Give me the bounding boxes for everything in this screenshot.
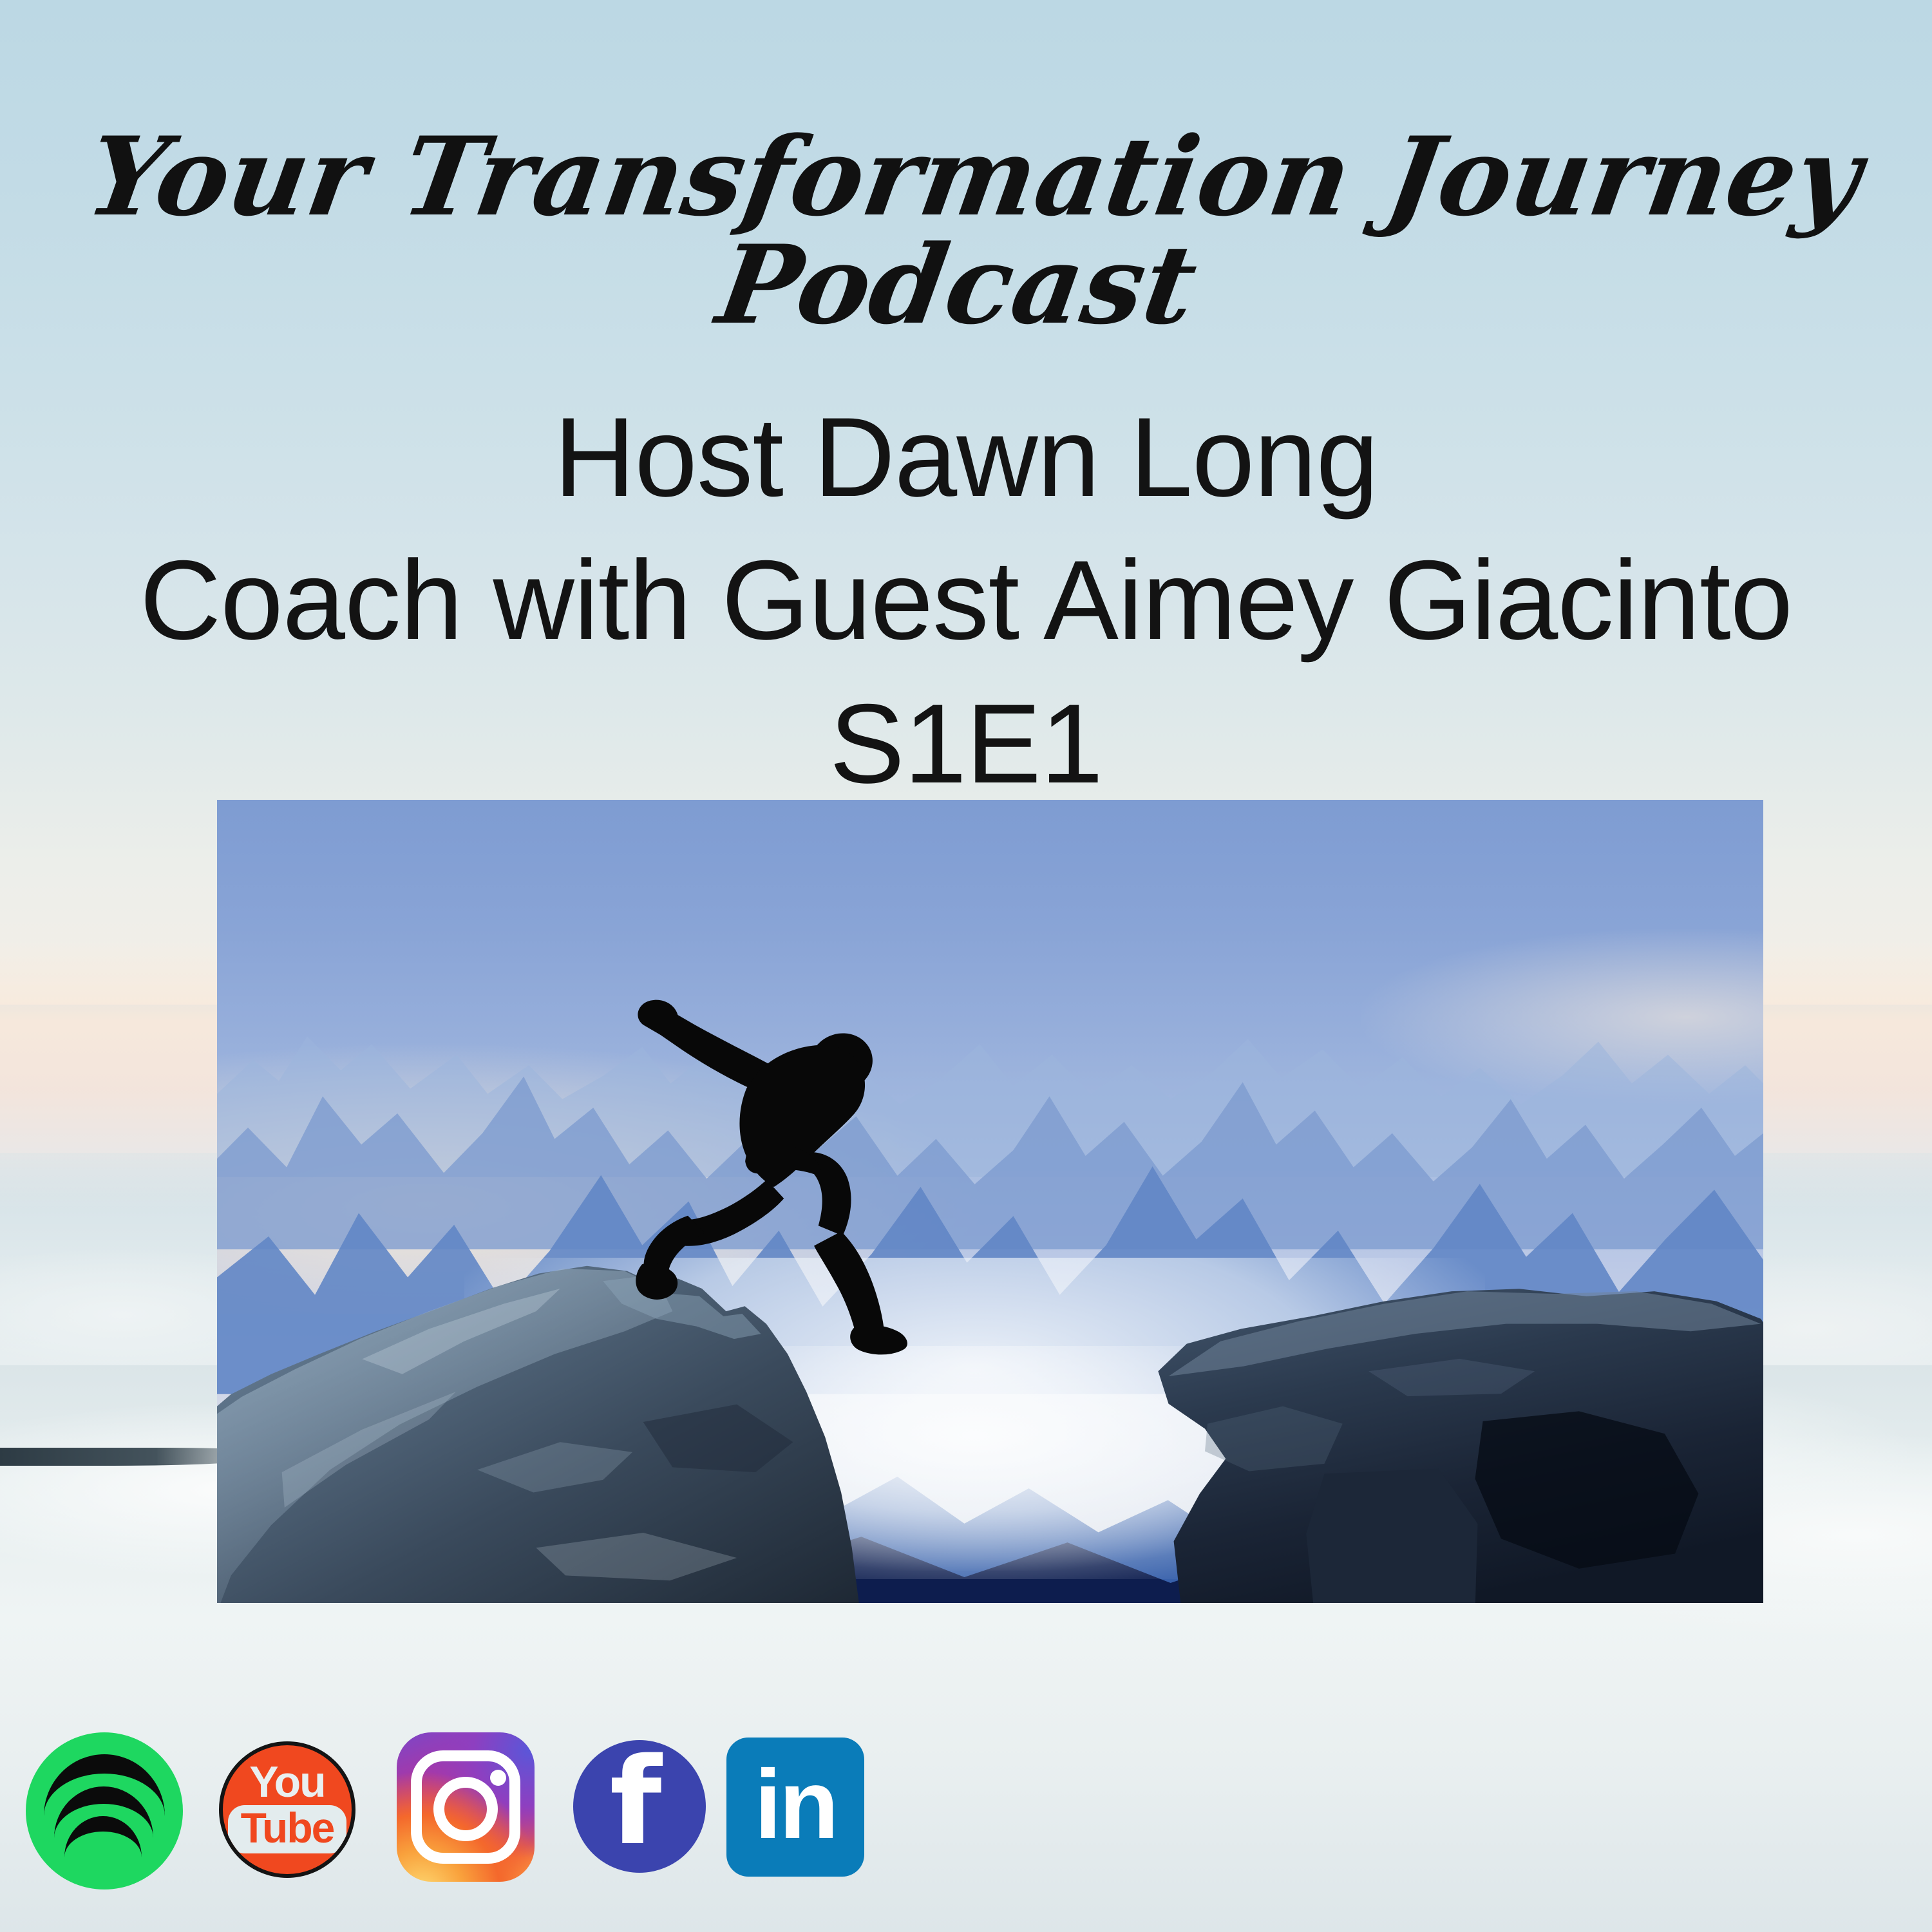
host-line: Host Dawn Long bbox=[0, 386, 1932, 529]
instagram-link[interactable] bbox=[397, 1732, 535, 1882]
page-title: Your Transformation Journey Podcast bbox=[0, 122, 1932, 339]
spotify-link[interactable] bbox=[26, 1732, 183, 1889]
youtube-you-text: You bbox=[249, 1762, 325, 1803]
episode-artwork-photo bbox=[217, 800, 1763, 1603]
youtube-link[interactable]: You Tube bbox=[219, 1741, 355, 1878]
spotify-icon[interactable] bbox=[26, 1732, 183, 1889]
instagram-flash-dot bbox=[490, 1770, 506, 1786]
episode-credits: Host Dawn Long Coach with Guest Aimey Gi… bbox=[0, 386, 1932, 816]
facebook-link[interactable]: f bbox=[573, 1740, 706, 1873]
linkedin-in-glyph: in bbox=[726, 1738, 864, 1877]
episode-line: S1E1 bbox=[0, 673, 1932, 816]
artwork-jumping-silhouette bbox=[591, 965, 962, 1367]
instagram-lens bbox=[433, 1777, 498, 1841]
facebook-icon[interactable]: f bbox=[573, 1740, 706, 1873]
youtube-icon[interactable]: You Tube bbox=[219, 1741, 355, 1878]
artwork-right-rock bbox=[1130, 1274, 1763, 1603]
social-links-row: You Tube f in bbox=[0, 1700, 966, 1919]
linkedin-link[interactable]: in bbox=[726, 1738, 864, 1877]
instagram-icon[interactable] bbox=[397, 1732, 535, 1882]
youtube-tube-text: Tube bbox=[241, 1806, 334, 1850]
facebook-f-glyph: f bbox=[573, 1740, 706, 1873]
guest-line: Coach with Guest Aimey Giacinto bbox=[0, 529, 1932, 672]
linkedin-icon[interactable]: in bbox=[726, 1738, 864, 1877]
youtube-plate: Tube bbox=[228, 1805, 347, 1853]
